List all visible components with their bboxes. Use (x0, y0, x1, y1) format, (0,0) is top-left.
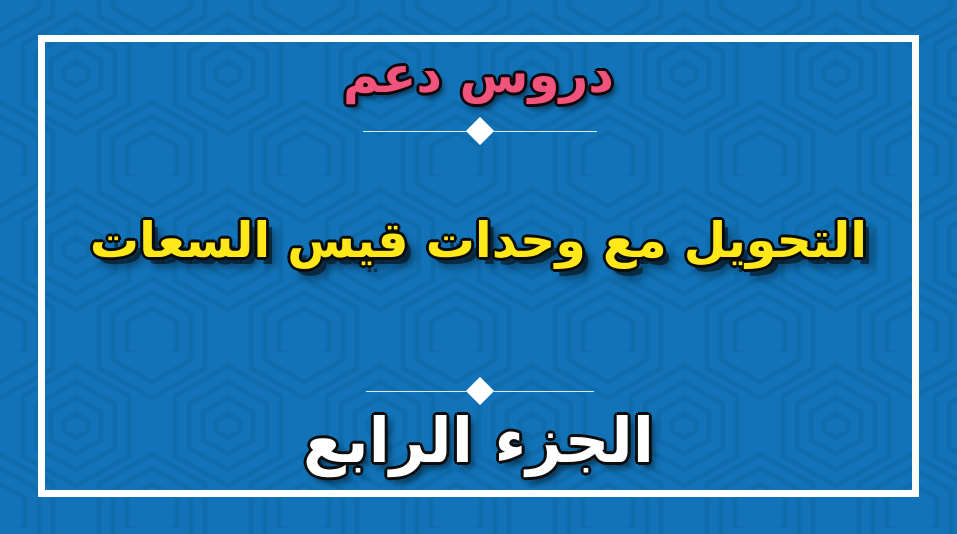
divider-rule-right (366, 391, 466, 392)
part-label: الجزء الرابع (0, 410, 957, 472)
main-title: التحويل مع وحدات قيس السعات (0, 216, 957, 265)
divider-bottom (366, 378, 594, 404)
diamond-icon (466, 377, 494, 405)
diamond-icon (466, 117, 494, 145)
divider-top (363, 118, 597, 144)
divider-rule-right (363, 131, 466, 132)
eyebrow-text: دروس دعم (0, 50, 957, 100)
divider-rule-left (494, 391, 594, 392)
divider-rule-left (494, 131, 597, 132)
lesson-title-card: دروس دعم التحويل مع وحدات قيس السعات الج… (0, 0, 957, 534)
